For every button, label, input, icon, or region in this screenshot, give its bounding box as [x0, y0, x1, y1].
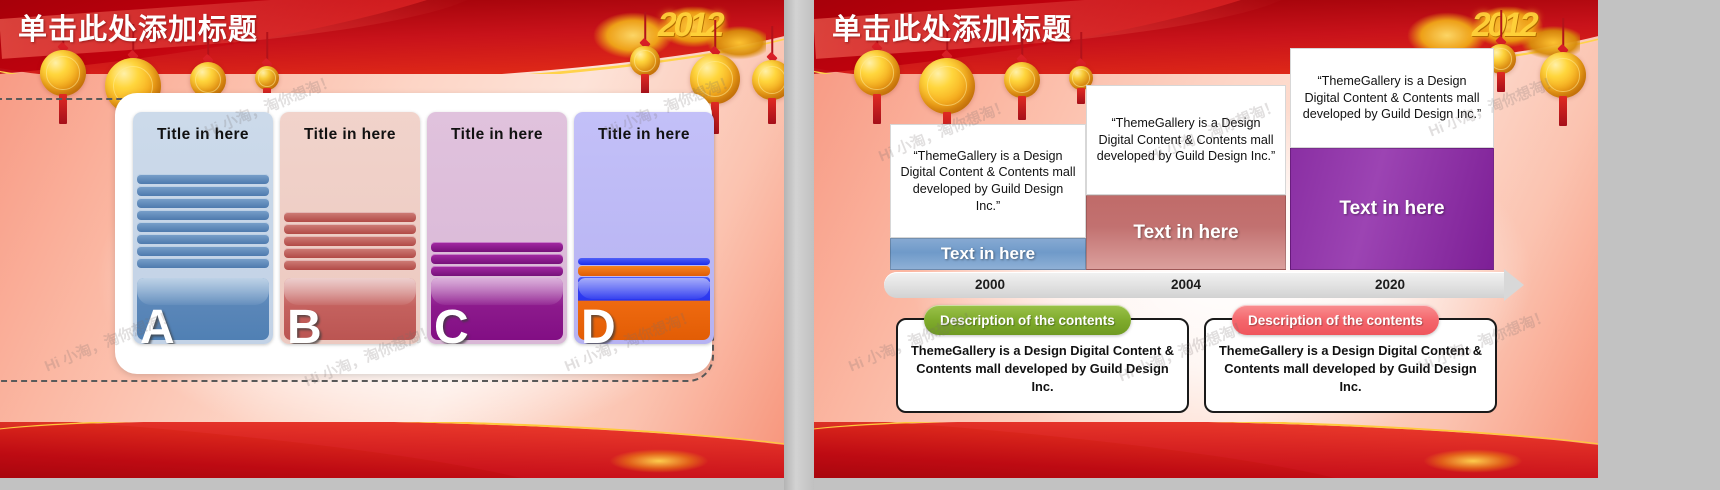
timeline-bar-2020[interactable]: Text in here: [1290, 148, 1494, 270]
timeline-bar-2004[interactable]: Text in here: [1086, 195, 1286, 270]
column-d-letter: D: [581, 304, 616, 344]
column-group: Title in here A Title in he: [133, 112, 714, 344]
timeline-quote-2020: “ThemeGallery is a Design Digital Conten…: [1290, 48, 1494, 148]
column-d[interactable]: Title in here D: [574, 112, 714, 344]
slide-1[interactable]: 2012: [0, 0, 784, 478]
column-c-title: Title in here: [427, 126, 567, 144]
column-c[interactable]: Title in here C: [427, 112, 567, 344]
column-a-title: Title in here: [133, 126, 273, 144]
column-c-stripes: [431, 242, 563, 276]
lantern-icon: [630, 46, 660, 76]
timeline-quote-2004: “ThemeGallery is a Design Digital Conten…: [1086, 85, 1286, 195]
column-c-letter: C: [434, 304, 469, 344]
description-body-2: ThemeGallery is a Design Digital Content…: [1214, 342, 1487, 396]
description-body-1: ThemeGallery is a Design Digital Content…: [906, 342, 1179, 396]
slide-bottom-wave: [0, 422, 784, 478]
lantern-icon: [854, 50, 900, 96]
description-badge-1: Description of the contents: [924, 305, 1131, 335]
lantern-icon: [752, 60, 784, 100]
column-a-stripes: [137, 174, 269, 268]
timeline-year-2000: 2000: [920, 277, 1060, 292]
description-card-1[interactable]: Description of the contents ThemeGallery…: [896, 318, 1189, 413]
page-title[interactable]: 单击此处添加标题: [18, 6, 258, 48]
description-card-2[interactable]: Description of the contents ThemeGallery…: [1204, 318, 1497, 413]
slide-2[interactable]: 2012 单击此: [814, 0, 1598, 478]
description-badge-2: Description of the contents: [1232, 305, 1439, 335]
column-b[interactable]: Title in here B: [280, 112, 420, 344]
column-b-stripes: [284, 212, 416, 270]
lantern-icon: [40, 50, 86, 96]
column-b-letter: B: [287, 304, 322, 344]
slide-bottom-wave: [814, 422, 1598, 478]
lantern-icon: [919, 58, 975, 114]
lantern-icon: [255, 66, 279, 90]
timeline-year-2004: 2004: [1116, 277, 1256, 292]
timeline-bar-2000[interactable]: Text in here: [890, 238, 1086, 270]
page-title[interactable]: 单击此处添加标题: [832, 6, 1072, 48]
column-a[interactable]: Title in here A: [133, 112, 273, 344]
slide-deck-preview: 2012: [0, 0, 1720, 490]
column-a-letter: A: [140, 304, 175, 344]
timeline-year-2020: 2020: [1320, 277, 1460, 292]
timeline-arrow-icon: [1504, 269, 1524, 301]
column-d-title: Title in here: [574, 126, 714, 144]
column-b-title: Title in here: [280, 126, 420, 144]
lantern-icon: [1004, 62, 1040, 98]
timeline-quote-2000: “ThemeGallery is a Design Digital Conten…: [890, 124, 1086, 238]
lantern-icon: [1540, 52, 1586, 98]
slide-divider: [784, 0, 814, 490]
